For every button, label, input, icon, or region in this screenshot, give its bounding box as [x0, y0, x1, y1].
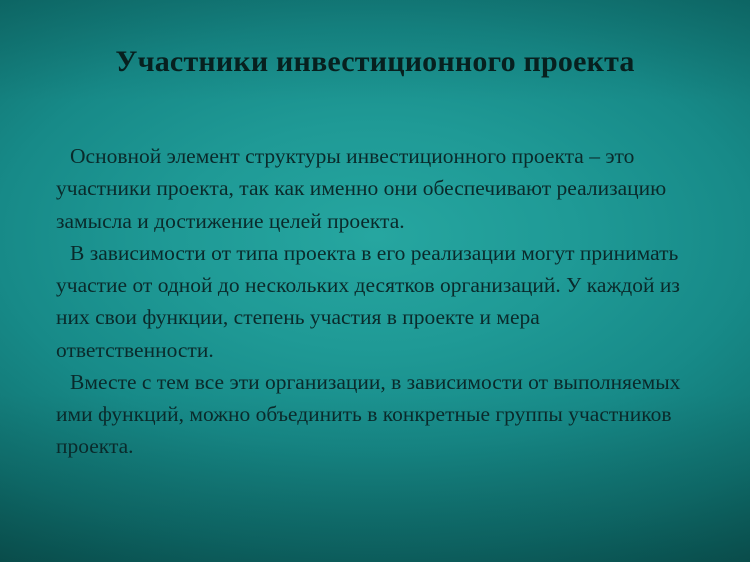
body-paragraph: Вместе с тем все эти организации, в зави… — [56, 366, 702, 463]
body-paragraph: В зависимости от типа проекта в его реал… — [56, 237, 702, 366]
slide-title: Участники инвестиционного проекта — [0, 44, 750, 80]
body-paragraph: Основной элемент структуры инвестиционно… — [56, 140, 702, 237]
presentation-slide: Участники инвестиционного проекта Основн… — [0, 0, 750, 562]
slide-body: Основной элемент структуры инвестиционно… — [56, 140, 702, 463]
